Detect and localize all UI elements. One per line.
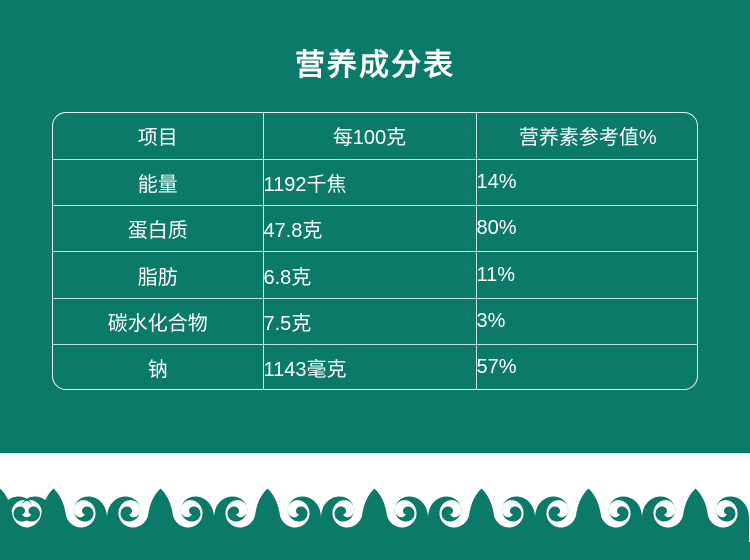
cell-item: 碳水化合物: [53, 298, 263, 344]
cloud-scroll-border-decoration: [0, 484, 750, 560]
cell-item: 能量: [53, 159, 263, 205]
cell-nrv: 3%: [476, 298, 698, 344]
header-cell-per100g: 每100克: [263, 113, 476, 159]
table-row: 钠 1143毫克 57%: [53, 344, 698, 390]
nutrition-facts-table: 项目 每100克 营养素参考值% 能量 1192千焦 14% 蛋白质 47.8克…: [52, 112, 698, 390]
cell-item: 蛋白质: [53, 206, 263, 252]
table-row: 能量 1192千焦 14%: [53, 159, 698, 205]
cell-item: 脂肪: [53, 252, 263, 298]
header-cell-nrv: 营养素参考值%: [476, 113, 698, 159]
cell-nrv: 80%: [476, 206, 698, 252]
table-row: 蛋白质 47.8克 80%: [53, 206, 698, 252]
table-header-row: 项目 每100克 营养素参考值%: [53, 113, 698, 159]
cell-nrv: 57%: [476, 344, 698, 390]
cloud-pattern-icon: [0, 484, 750, 560]
page-title: 营养成分表: [0, 48, 750, 84]
cell-nrv: 11%: [476, 252, 698, 298]
table-row: 脂肪 6.8克 11%: [53, 252, 698, 298]
cell-per100g: 1143毫克: [263, 344, 476, 390]
cell-per100g: 1192千焦: [263, 159, 476, 205]
cell-per100g: 47.8克: [263, 206, 476, 252]
header-cell-item: 项目: [53, 113, 263, 159]
cell-item: 钠: [53, 344, 263, 390]
cell-per100g: 7.5克: [263, 298, 476, 344]
cell-per100g: 6.8克: [263, 252, 476, 298]
white-separator-band: [0, 453, 750, 487]
nutrition-label-page: 营养成分表 项目 每100克 营养素参考值% 能量 1192千焦 14% 蛋白质: [0, 0, 750, 560]
cell-nrv: 14%: [476, 159, 698, 205]
table-row: 碳水化合物 7.5克 3%: [53, 298, 698, 344]
